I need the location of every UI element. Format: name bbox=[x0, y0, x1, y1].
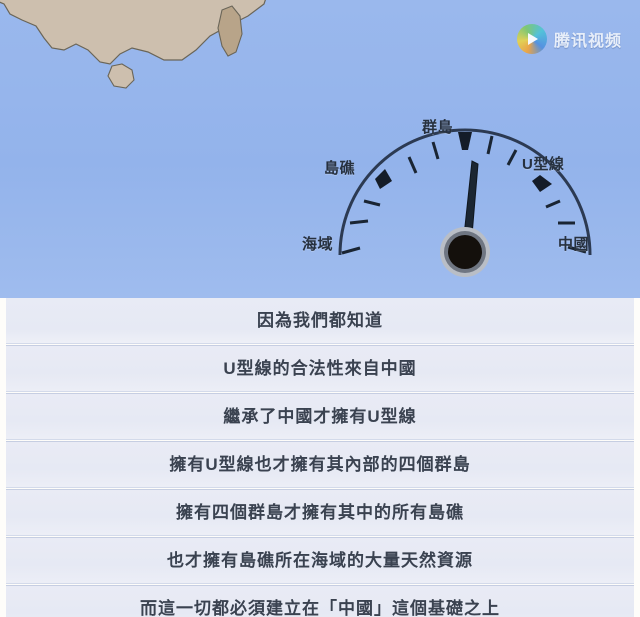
caption-row: 而這一切都必須建立在「中國」這個基礎之上 bbox=[6, 585, 634, 617]
hero-panel: 腾讯视频 bbox=[0, 0, 640, 298]
play-circle-icon bbox=[517, 24, 547, 54]
infographic-page: 腾讯视频 bbox=[0, 0, 640, 617]
caption-row: U型線的合法性來自中國 bbox=[6, 345, 634, 392]
gauge-dial: 海域 島礁 群島 U型線 中國 bbox=[300, 105, 630, 280]
tencent-video-watermark: 腾讯视频 bbox=[517, 24, 622, 54]
watermark-brand-label: 腾讯视频 bbox=[554, 27, 622, 51]
caption-row: 也才擁有島礁所在海域的大量天然資源 bbox=[6, 537, 634, 584]
caption-text: 擁有U型線也才擁有其內部的四個群島 bbox=[169, 456, 470, 473]
caption-text: U型線的合法性來自中國 bbox=[223, 360, 416, 377]
gauge-hub-inner bbox=[448, 235, 482, 269]
caption-row-list: 因為我們都知道 U型線的合法性來自中國 繼承了中國才擁有U型線 擁有U型線也才擁… bbox=[0, 298, 640, 617]
caption-text: 擁有四個群島才擁有其中的所有島礁 bbox=[176, 504, 464, 521]
caption-row: 繼承了中國才擁有U型線 bbox=[6, 393, 634, 440]
caption-text: 因為我們都知道 bbox=[257, 312, 383, 329]
caption-text: 而這一切都必須建立在「中國」這個基礎之上 bbox=[140, 600, 500, 617]
gauge-label-reefs: 島礁 bbox=[324, 157, 355, 178]
gauge-label-u-line: U型線 bbox=[522, 153, 564, 174]
caption-row: 擁有四個群島才擁有其中的所有島礁 bbox=[6, 489, 634, 536]
gauge-label-sea-area: 海域 bbox=[302, 233, 333, 254]
gauge-label-archipelago: 群島 bbox=[422, 116, 453, 137]
caption-text: 繼承了中國才擁有U型線 bbox=[223, 408, 416, 425]
hainan-shape bbox=[108, 64, 134, 88]
china-coast-map bbox=[0, 0, 280, 114]
caption-row: 因為我們都知道 bbox=[6, 298, 634, 344]
taiwan-shape bbox=[218, 6, 242, 56]
caption-text: 也才擁有島礁所在海域的大量天然資源 bbox=[167, 552, 473, 569]
caption-row: 擁有U型線也才擁有其內部的四個群島 bbox=[6, 441, 634, 488]
gauge-label-china: 中國 bbox=[558, 233, 589, 254]
